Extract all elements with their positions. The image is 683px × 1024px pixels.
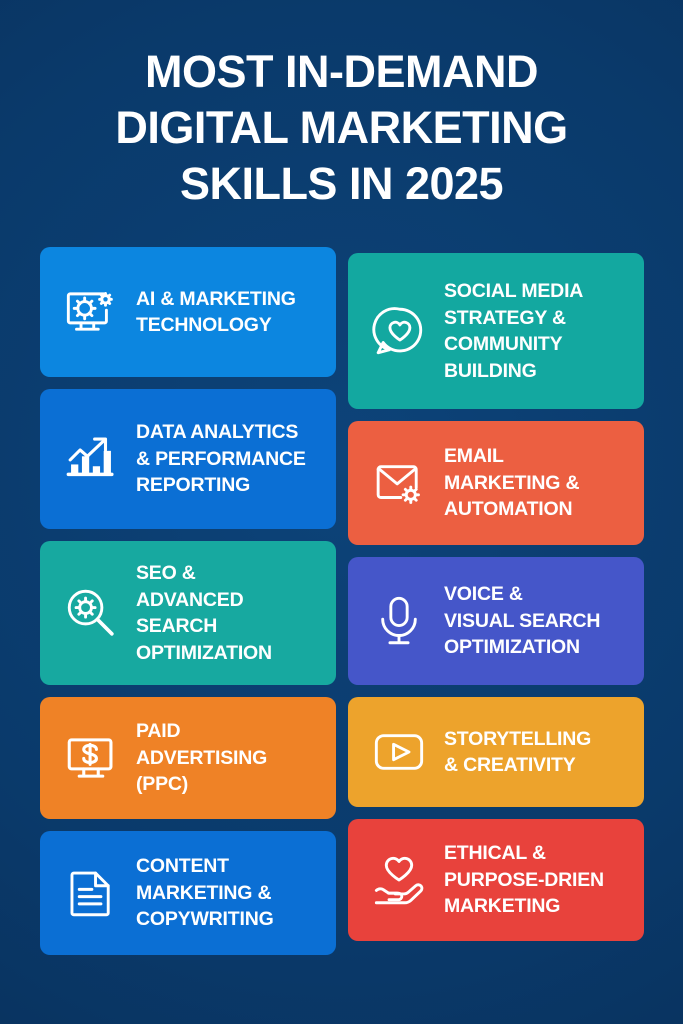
hand-heart-icon — [368, 849, 430, 911]
document-icon — [60, 862, 122, 924]
monitor-dollar-icon — [60, 727, 122, 789]
skill-card-ethical-marketing[interactable]: ETHICAL & PURPOSE-DRIEN MARKETING — [348, 819, 644, 941]
skill-card-email-marketing[interactable]: EMAIL MARKETING & AUTOMATION — [348, 421, 644, 545]
skill-card-label: CONTENT MARKETING & COPYWRITING — [136, 853, 274, 933]
skill-card-label: SEO & ADVANCED SEARCH OPTIMIZATION — [136, 560, 272, 666]
skill-card-label: STORYTELLING & CREATIVITY — [444, 726, 591, 779]
infographic-poster: MOST IN-DEMAND DIGITAL MARKETING SKILLS … — [0, 0, 683, 1024]
skill-card-label: DATA ANALYTICS & PERFORMANCE REPORTING — [136, 419, 306, 499]
speech-bubble-heart-icon — [368, 300, 430, 362]
title-line-3: SKILLS IN 2025 — [26, 156, 657, 212]
skill-card-label: ETHICAL & PURPOSE-DRIEN MARKETING — [444, 840, 604, 920]
skill-card-label: VOICE & VISUAL SEARCH OPTIMIZATION — [444, 581, 600, 661]
skill-card-voice-visual-search[interactable]: VOICE & VISUAL SEARCH OPTIMIZATION — [348, 557, 644, 685]
play-button-icon — [368, 721, 430, 783]
title-line-2: DIGITAL MARKETING — [26, 100, 657, 156]
page-title: MOST IN-DEMAND DIGITAL MARKETING SKILLS … — [0, 44, 683, 212]
skill-card-social-media[interactable]: SOCIAL MEDIA STRATEGY & COMMUNITY BUILDI… — [348, 253, 644, 409]
right-column: SOCIAL MEDIA STRATEGY & COMMUNITY BUILDI… — [348, 247, 644, 955]
skill-card-label: SOCIAL MEDIA STRATEGY & COMMUNITY BUILDI… — [444, 278, 583, 384]
skill-card-storytelling[interactable]: STORYTELLING & CREATIVITY — [348, 697, 644, 807]
bar-chart-arrow-icon — [60, 428, 122, 490]
left-column: AI & MARKETING TECHNOLOGY DATA ANALYTIC — [40, 247, 336, 955]
skill-card-seo[interactable]: SEO & ADVANCED SEARCH OPTIMIZATION — [40, 541, 336, 685]
magnifier-gear-icon — [60, 582, 122, 644]
envelope-gear-icon — [368, 452, 430, 514]
skill-card-content-marketing[interactable]: CONTENT MARKETING & COPYWRITING — [40, 831, 336, 955]
skills-card-grid: AI & MARKETING TECHNOLOGY DATA ANALYTIC — [40, 247, 645, 955]
monitor-gears-icon — [60, 281, 122, 343]
skill-card-label: EMAIL MARKETING & AUTOMATION — [444, 443, 579, 523]
skill-card-data-analytics[interactable]: DATA ANALYTICS & PERFORMANCE REPORTING — [40, 389, 336, 529]
skill-card-paid-advertising[interactable]: PAID ADVERTISING (PPC) — [40, 697, 336, 819]
skill-card-label: PAID ADVERTISING (PPC) — [136, 718, 267, 798]
title-line-1: MOST IN-DEMAND — [26, 44, 657, 100]
skill-card-ai-marketing-technology[interactable]: AI & MARKETING TECHNOLOGY — [40, 247, 336, 377]
microphone-icon — [368, 590, 430, 652]
skill-card-label: AI & MARKETING TECHNOLOGY — [136, 286, 296, 339]
